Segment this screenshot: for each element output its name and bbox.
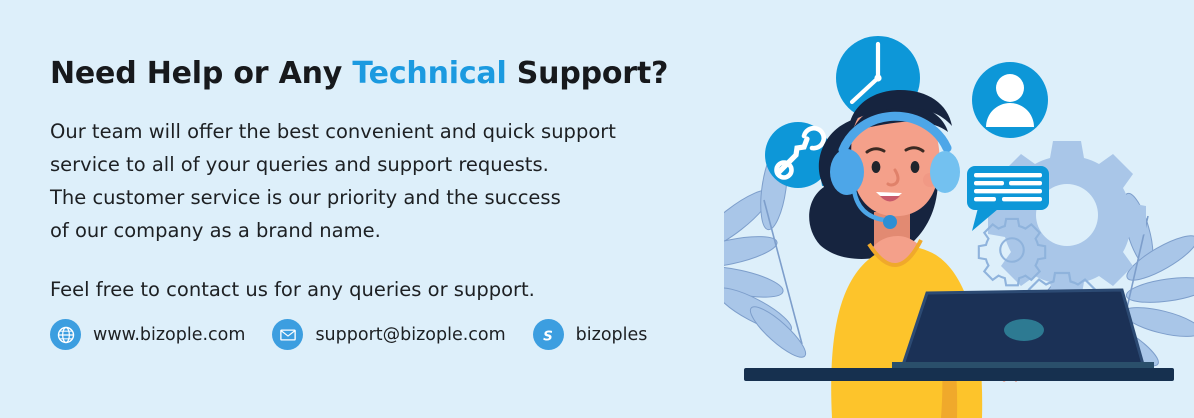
contact-item-email[interactable]: support@bizople.com [272,319,505,350]
description-paragraph: Our team will offer the best convenient … [50,115,740,247]
user-avatar-icon [972,62,1048,138]
contact-label-skype: bizoples [576,325,648,345]
page-title: Need Help or Any Technical Support? [50,56,740,91]
laptop [892,290,1154,372]
customer-support-agent-illustration [724,0,1194,418]
gear-icon [988,141,1146,299]
skype-icon: S [533,319,564,350]
contact-label-website: www.bizople.com [93,325,245,345]
envelope-icon [272,319,303,350]
page-title-accent: Technical [352,56,506,91]
contact-label-email: support@bizople.com [315,325,505,345]
contact-item-website[interactable]: www.bizople.com [50,319,245,350]
svg-text:S: S [543,328,553,344]
globe-icon [50,319,81,350]
contact-item-skype[interactable]: S bizoples [533,319,648,350]
text-content: Need Help or Any Technical Support? Our … [50,56,740,306]
desk [744,368,1174,381]
page-title-part1: Need Help or Any [50,56,352,91]
call-to-action-paragraph: Feel free to contact us for any queries … [50,273,740,306]
illustration-svg [724,0,1194,418]
support-banner: Need Help or Any Technical Support? Our … [0,0,1194,418]
contact-row: www.bizople.com support@bizople.com S bi… [50,319,647,350]
page-title-part2: Support? [507,56,669,91]
